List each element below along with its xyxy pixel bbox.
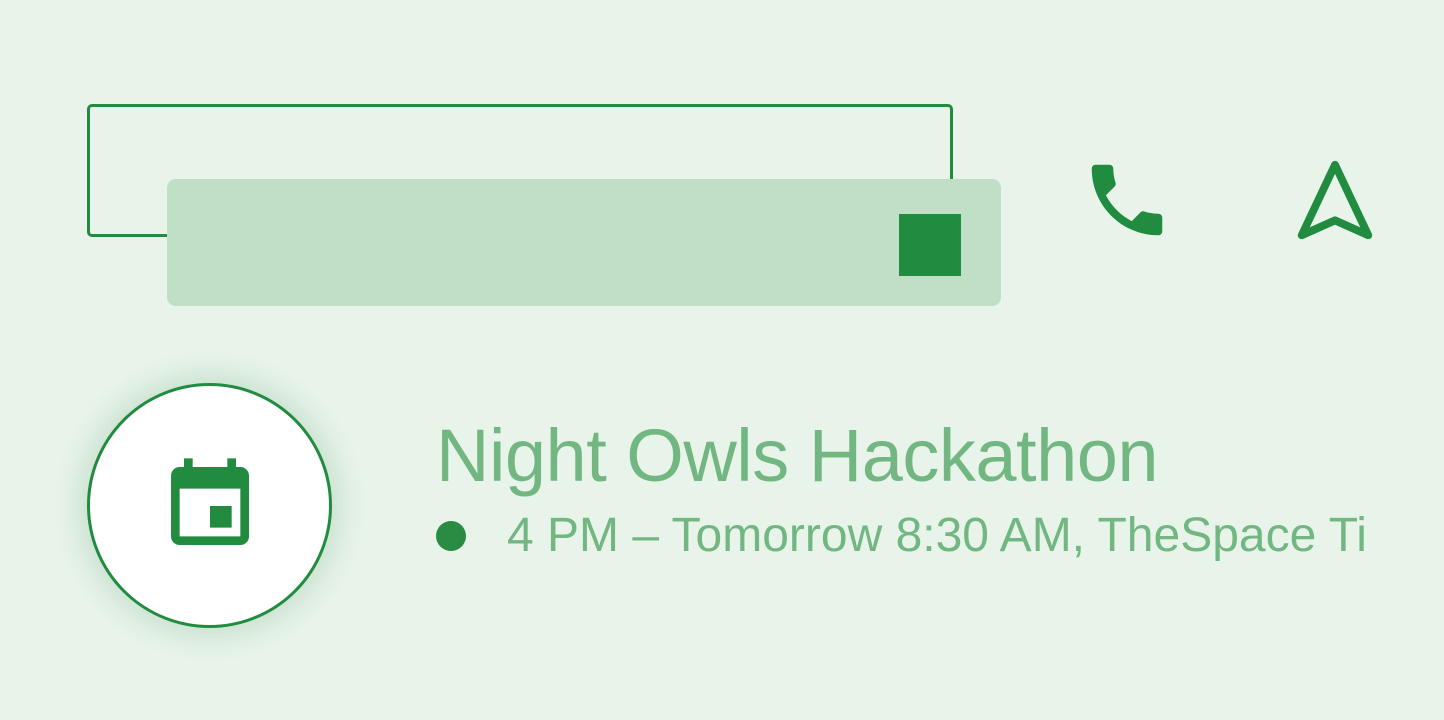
event-meta-line: 4 PM – Tomorrow 8:30 AM, TheSpace Ti xyxy=(436,508,1367,564)
event-title: Night Owls Hackathon xyxy=(436,417,1158,495)
navigation-arrow-icon[interactable] xyxy=(1288,153,1382,247)
event-text-block: Night Owls Hackathon 4 PM – Tomorrow 8:3… xyxy=(436,383,1444,628)
screen-root: Night Owls Hackathon 4 PM – Tomorrow 8:3… xyxy=(0,0,1444,720)
phone-icon[interactable] xyxy=(1080,153,1174,247)
destination-marker-square xyxy=(899,214,961,276)
event-subtitle: 4 PM – Tomorrow 8:30 AM, TheSpace Ti xyxy=(507,508,1367,564)
status-dot xyxy=(436,521,466,551)
route-fill-panel xyxy=(167,179,1001,306)
calendar-event-icon xyxy=(87,383,332,628)
event-row[interactable]: Night Owls Hackathon 4 PM – Tomorrow 8:3… xyxy=(0,383,1444,633)
